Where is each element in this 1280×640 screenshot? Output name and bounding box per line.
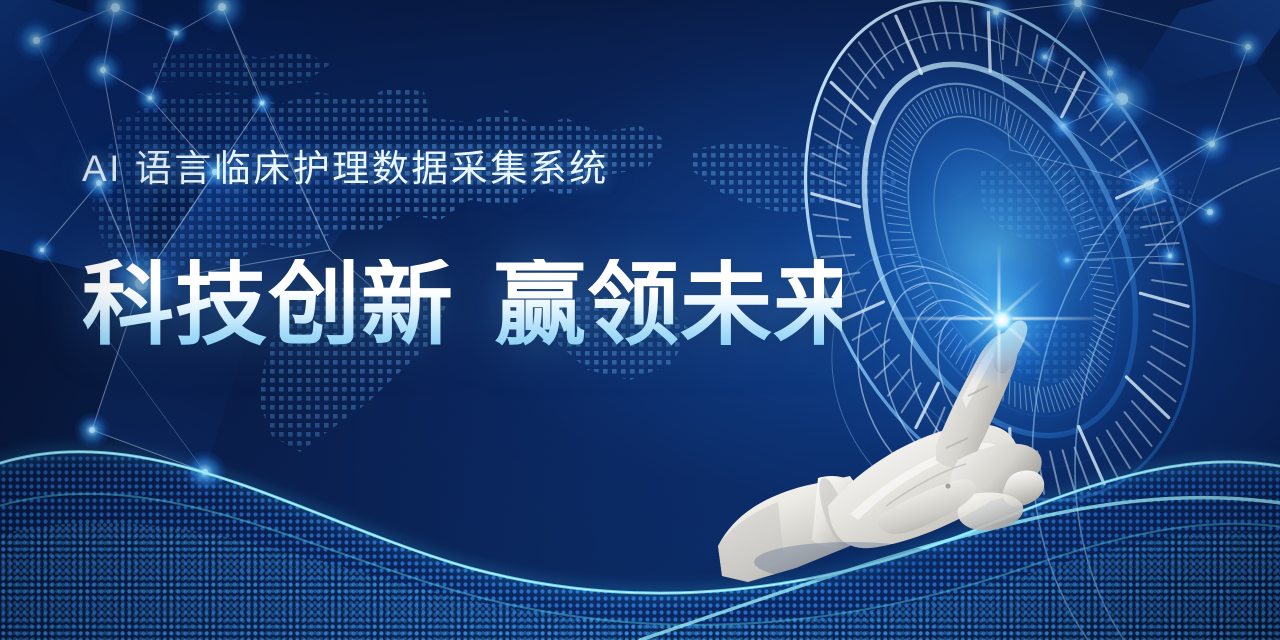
particle-wave-mesh bbox=[0, 0, 1280, 640]
banner-canvas: AI 语言临床护理数据采集系统 科技创新赢领未来 bbox=[0, 0, 1280, 640]
